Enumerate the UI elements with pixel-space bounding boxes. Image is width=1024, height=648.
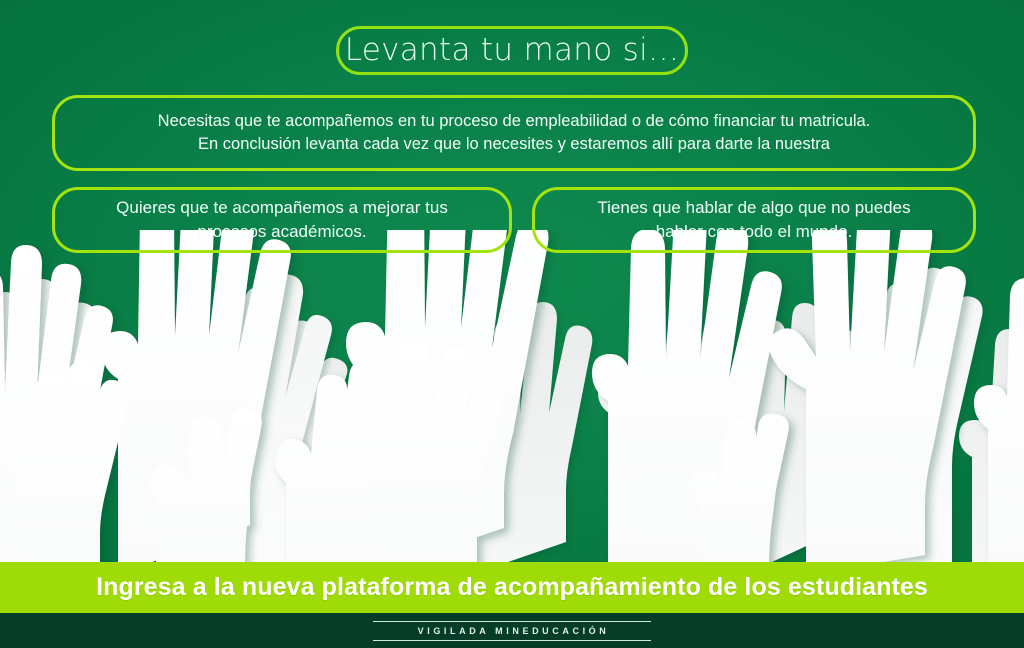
poster-root: Levanta tu mano si… Necesitas que te aco… [0,0,1024,648]
message-line-2: procesos académicos. [197,222,366,241]
page-title-pill: Levanta tu mano si… [336,26,688,75]
raised-hands-illustration [0,230,1024,575]
message-box-academic: Quieres que te acompañemos a mejorar tus… [52,187,512,253]
message-line-2: En conclusión levanta cada vez que lo ne… [198,135,830,153]
message-box-right-text: Tienes que hablar de algo que no puedes … [583,196,924,244]
footer-rule-bottom [373,640,651,641]
message-box-left-text: Quieres que te acompañemos a mejorar tus… [102,196,462,244]
cta-banner-text: Ingresa a la nueva plataforma de acompañ… [96,573,928,602]
cta-banner[interactable]: Ingresa a la nueva plataforma de acompañ… [0,562,1024,613]
message-line-1: Quieres que te acompañemos a mejorar tus [116,198,448,217]
footer-text: VIGILADA MINEDUCACIÓN [415,622,610,640]
message-box-employability: Necesitas que te acompañemos en tu proce… [52,95,976,171]
footer-bar: VIGILADA MINEDUCACIÓN [0,613,1024,648]
page-title: Levanta tu mano si… [345,35,680,66]
message-line-1: Necesitas que te acompañemos en tu proce… [158,112,871,130]
message-box-wide-text: Necesitas que te acompañemos en tu proce… [144,110,885,157]
message-line-1: Tienes que hablar de algo que no puedes [597,198,910,217]
message-line-2: hablar con todo el mundo. [656,222,853,241]
vigilada-mineducacion-mark: VIGILADA MINEDUCACIÓN [373,621,651,641]
message-box-confidential: Tienes que hablar de algo que no puedes … [532,187,976,253]
